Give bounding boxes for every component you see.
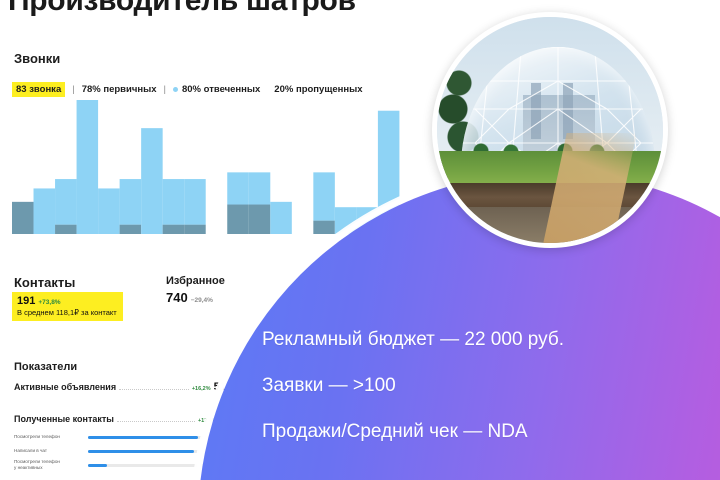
- calls-missed-label: 20% пропущенных: [274, 84, 362, 95]
- bar-segment-missed: [249, 205, 271, 234]
- bar-segment-missed: [184, 225, 206, 234]
- breakdown-label: Посмотрели телефон у неактивных: [14, 459, 82, 471]
- favorites-value-row: 740−29,4%: [166, 290, 213, 305]
- bar-segment-missed: [55, 225, 77, 234]
- calls-legend: 83 звонка | 78% первичных | 80% отвеченн…: [12, 82, 363, 97]
- favorites-delta: −29,4%: [191, 297, 213, 304]
- breakdown-bar-track: [88, 450, 208, 453]
- answered-color-dot-icon: [173, 87, 178, 92]
- photo-embankment: [437, 183, 663, 209]
- bar-segment-missed: [163, 225, 185, 234]
- bar-segment-answered: [313, 172, 335, 220]
- bar-segment-answered: [184, 179, 206, 225]
- bar-segment-answered: [227, 172, 249, 204]
- contacts-section-title: Контакты: [14, 275, 75, 290]
- summary-line: Рекламный бюджет — 22 000 руб.: [262, 330, 702, 349]
- metric-leader-line: [117, 420, 195, 422]
- dome-tent-photo: [432, 12, 668, 248]
- page-title: Производитель шатров: [8, 0, 356, 18]
- breakdown-label: Посмотрели телефон: [14, 434, 82, 440]
- contacts-average-label: В среднем 118,1₽ за контакт: [17, 309, 117, 318]
- calls-section-title: Звонки: [14, 51, 60, 66]
- favorites-value: 740: [166, 290, 188, 305]
- list-item: Посмотрели телефон94: [14, 432, 230, 442]
- bar-segment-answered: [141, 128, 163, 234]
- bar-segment-answered: [77, 100, 99, 234]
- contacts-delta: +73,8%: [38, 299, 60, 306]
- breakdown-bar-track: [88, 464, 208, 467]
- metric-label: Полученные контакты: [14, 414, 114, 424]
- contacts-highlight: 191+73,8% В среднем 118,1₽ за контакт: [12, 292, 123, 321]
- bar-segment-missed: [227, 205, 249, 234]
- bar-segment-answered: [34, 188, 56, 234]
- metric-leader-line: [119, 388, 189, 390]
- contacts-value: 191: [17, 295, 35, 307]
- legend-separator-2: |: [164, 84, 166, 95]
- summary-text-block: Рекламный бюджет — 22 000 руб.Заявки — >…: [262, 330, 702, 468]
- summary-line: Продажи/Средний чек — NDA: [262, 422, 702, 441]
- bar-segment-answered: [249, 172, 271, 204]
- bar-segment-answered: [270, 202, 292, 234]
- favorites-section-title: Избранное: [166, 275, 225, 287]
- bar-segment-answered: [98, 188, 120, 234]
- slide-canvas: Звонки 83 звонка | 78% первичных | 80% о…: [0, 0, 720, 480]
- bar-segment-missed: [120, 225, 142, 234]
- bar-segment-answered: [120, 179, 142, 225]
- breakdown-label: Написали в чат: [14, 448, 82, 454]
- legend-separator-1: |: [72, 84, 74, 95]
- metric-row-active-ads: Активные объявления +16,2% 514: [14, 381, 232, 393]
- metric-label: Активные объявления: [14, 382, 116, 392]
- breakdown-bar-track: [88, 436, 208, 439]
- bar-segment-answered: [163, 179, 185, 225]
- calls-answered-label: 80% отвеченных: [182, 84, 260, 95]
- summary-line: Заявки — >100: [262, 376, 702, 395]
- breakdown-bar-fill: [88, 464, 107, 467]
- metric-row-received-contacts: Полученные контакты +12,6% 19: [14, 413, 232, 425]
- breakdown-bar-fill: [88, 436, 198, 439]
- metric-delta: +16,2%: [192, 386, 211, 392]
- metrics-section-title: Показатели: [14, 361, 77, 373]
- contacts-value-row: 191+73,8%: [17, 295, 117, 308]
- calls-total-badge: 83 звонка: [12, 82, 65, 97]
- breakdown-bar-fill: [88, 450, 194, 453]
- bar-segment-answered: [55, 179, 77, 225]
- calls-primary-label: 78% первичных: [82, 84, 157, 95]
- bar-segment-missed: [12, 202, 34, 234]
- bar-segment-missed: [313, 221, 335, 234]
